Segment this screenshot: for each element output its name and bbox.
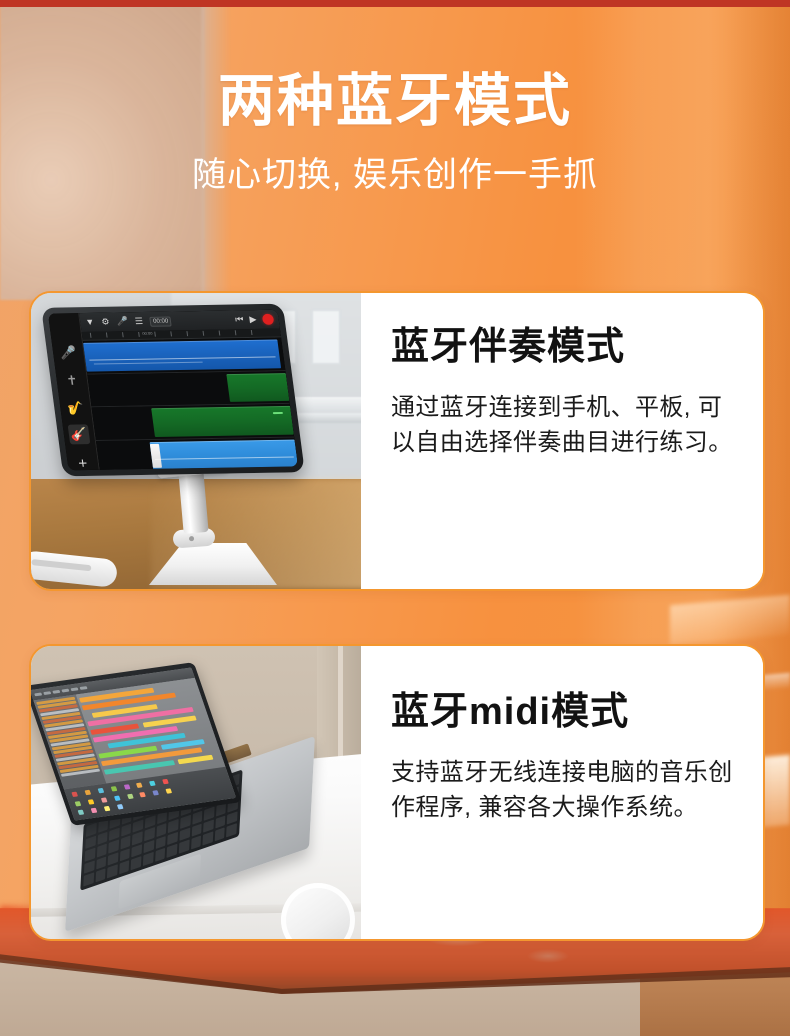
laptop-scene-background <box>31 646 361 939</box>
tablet-photo: 🎤 ✝ 🎷 🎸 + ▼ ⚙ 🎤 ☰ <box>31 293 361 589</box>
laptop-photo <box>31 646 361 939</box>
feature-card-description: 通过蓝牙连接到手机、平板, 可以自由选择伴奏曲目进行练习。 <box>391 391 737 461</box>
laptop-lid <box>31 662 242 826</box>
tablet-scene-background: 🎤 ✝ 🎷 🎸 + ▼ ⚙ 🎤 ☰ <box>31 293 361 589</box>
record-icon <box>262 314 275 325</box>
daw-track <box>83 337 286 374</box>
feature-card-title: 蓝牙伴奏模式 <box>391 327 737 369</box>
drumstick-icon: ✝ <box>61 371 84 391</box>
tablet-stand-post <box>178 470 208 534</box>
daw-track <box>96 437 298 470</box>
feature-card-copy: 蓝牙伴奏模式 通过蓝牙连接到手机、平板, 可以自由选择伴奏曲目进行练习。 <box>361 293 763 589</box>
feature-card-title: 蓝牙midi模式 <box>391 692 737 734</box>
green-clip-track-3 <box>151 406 293 437</box>
scene-window-pane <box>311 309 341 365</box>
mixer-icon: ☰ <box>134 317 143 326</box>
settings-icon: ⚙ <box>101 318 110 327</box>
add-track-icon: + <box>72 454 95 470</box>
ukulele-icon: 🎷 <box>64 399 87 419</box>
laptop-screen <box>31 667 236 820</box>
play-icon: ▶ <box>249 315 257 324</box>
daw-track <box>92 404 295 441</box>
laptop-device <box>39 670 327 900</box>
blue-clip-track-1 <box>83 339 281 371</box>
microphone-icon: 🎤 <box>116 317 128 326</box>
tablet-screen: 🎤 ✝ 🎷 🎸 + ▼ ⚙ 🎤 ☰ <box>48 310 298 471</box>
microphone-icon: 🎤 <box>57 343 80 363</box>
product-feature-page: 两种蓝牙模式 随心切换, 娱乐创作一手抓 <box>0 0 790 1036</box>
tablet-device: 🎤 ✝ 🎷 🎸 + ▼ ⚙ 🎤 ☰ <box>41 304 305 477</box>
rewind-icon: ⏮ <box>235 315 244 324</box>
feature-card-bluetooth-midi[interactable]: 蓝牙midi模式 支持蓝牙无线连接电脑的音乐创作程序, 兼容各大操作系统。 <box>29 644 765 941</box>
green-clip-track-2 <box>226 373 289 402</box>
blue-clip-track-4 <box>150 439 298 470</box>
daw-transport-controls: ⏮ ▶ <box>235 314 275 326</box>
page-title: 两种蓝牙模式 <box>0 72 790 131</box>
daw-track <box>87 371 290 408</box>
page-subtitle: 随心切换, 娱乐创作一手抓 <box>0 155 790 196</box>
daw-timeline-area: ▼ ⚙ 🎤 ☰ 00:00 ⏮ ▶ <box>79 310 298 470</box>
loop-chip: 00:00 <box>149 316 171 326</box>
chevron-down-icon: ▼ <box>85 318 95 327</box>
feature-card-bluetooth-accompaniment[interactable]: 🎤 ✝ 🎷 🎸 + ▼ ⚙ 🎤 ☰ <box>29 291 765 591</box>
header-block: 两种蓝牙模式 随心切换, 娱乐创作一手抓 <box>0 72 790 196</box>
daw-track-list <box>83 337 298 469</box>
feature-card-copy: 蓝牙midi模式 支持蓝牙无线连接电脑的音乐创作程序, 兼容各大操作系统。 <box>361 646 763 939</box>
guitar-icon: 🎸 <box>68 424 91 444</box>
top-accent-bar <box>0 0 790 7</box>
feature-card-description: 支持蓝牙无线连接电脑的音乐创作程序, 兼容各大操作系统。 <box>391 756 737 826</box>
